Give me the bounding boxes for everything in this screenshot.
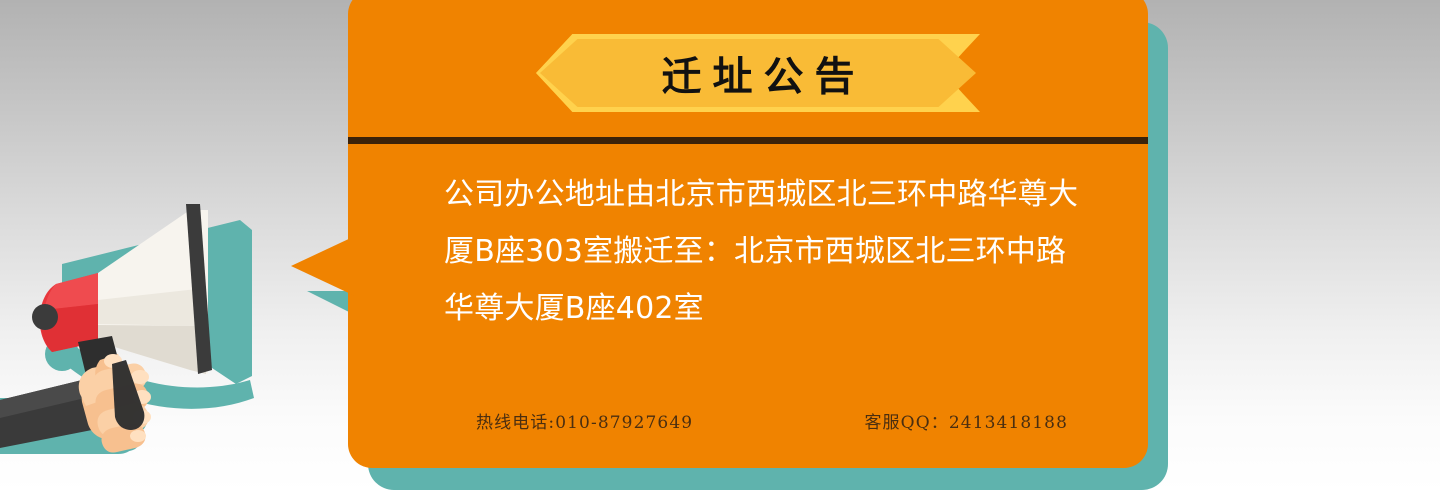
- footer-contacts: 热线电话:010-87927649 客服QQ：2413418188: [444, 408, 1090, 433]
- megaphone-nub: [32, 304, 58, 330]
- megaphone-icon: [0, 184, 300, 492]
- announcement-body: 公司办公地址由北京市西城区北三环中路华尊大厦B座303室搬迁至：北京市西城区北三…: [444, 166, 1090, 337]
- hotline-text: 热线电话:010-87927649: [444, 408, 693, 433]
- page-title: 迁址公告: [536, 34, 980, 112]
- announcement-banner-stage: 迁址公告 公司办公地址由北京市西城区北三环中路华尊大厦B座303室搬迁至：北京市…: [0, 0, 1440, 492]
- speech-tail: [291, 236, 355, 296]
- customer-service-qq-text: 客服QQ：2413418188: [864, 408, 1090, 433]
- title-banner: 迁址公告: [536, 34, 980, 112]
- divider: [348, 137, 1148, 144]
